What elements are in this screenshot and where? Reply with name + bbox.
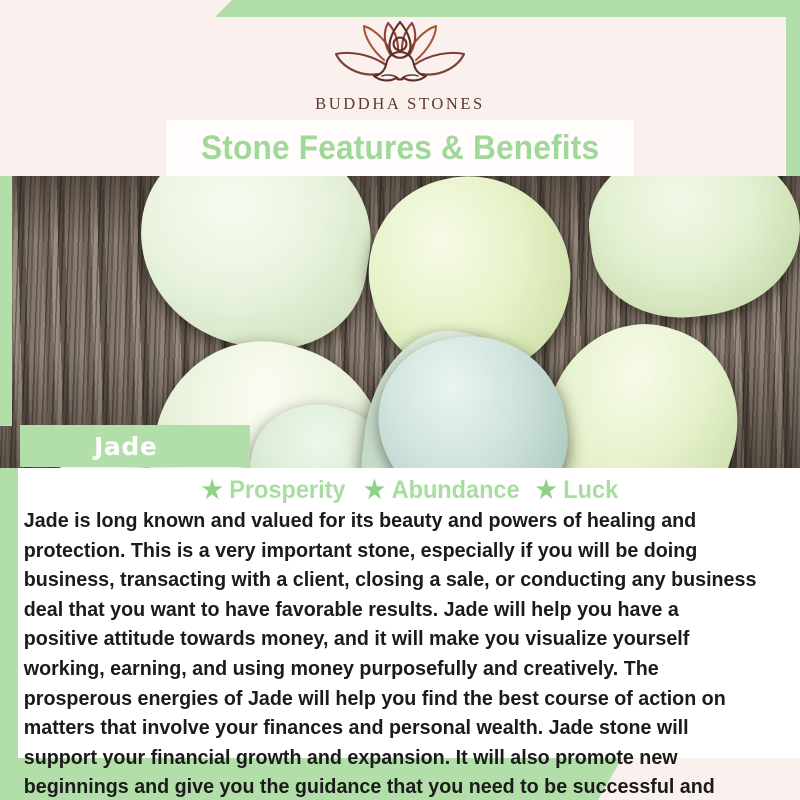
stone-name-band: Jade (20, 425, 250, 467)
keyword-item-prosperity: ★ Prosperity (201, 476, 345, 505)
stone-info-poster: BUDDHA STONES Stone Features & Benefits … (0, 0, 800, 800)
stone-description-panel: ★ Prosperity ★ Abundance ★ Luck Jade is … (18, 468, 800, 758)
keyword-label: Prosperity (229, 476, 345, 505)
star-icon: ★ (536, 478, 557, 503)
star-icon: ★ (364, 478, 385, 503)
brand-logo: BUDDHA STONES (290, 18, 510, 114)
decor-band-left-photo (0, 176, 12, 426)
page-title: Stone Features & Benefits (201, 129, 599, 168)
keyword-item-abundance: ★ Abundance (364, 476, 520, 505)
keyword-item-luck: ★ Luck (536, 476, 619, 505)
title-plate: Stone Features & Benefits (166, 120, 634, 176)
star-icon: ★ (201, 478, 222, 503)
keyword-label: Luck (564, 476, 619, 505)
decor-band-left (0, 424, 18, 758)
lotus-meditation-icon (324, 18, 476, 90)
brand-name: BUDDHA STONES (290, 94, 510, 114)
keyword-list: ★ Prosperity ★ Abundance ★ Luck (18, 468, 800, 502)
keyword-label: Abundance (391, 476, 519, 505)
stone-name: Jade (20, 432, 157, 461)
stone-description-text: Jade is long known and valued for its be… (18, 502, 773, 800)
